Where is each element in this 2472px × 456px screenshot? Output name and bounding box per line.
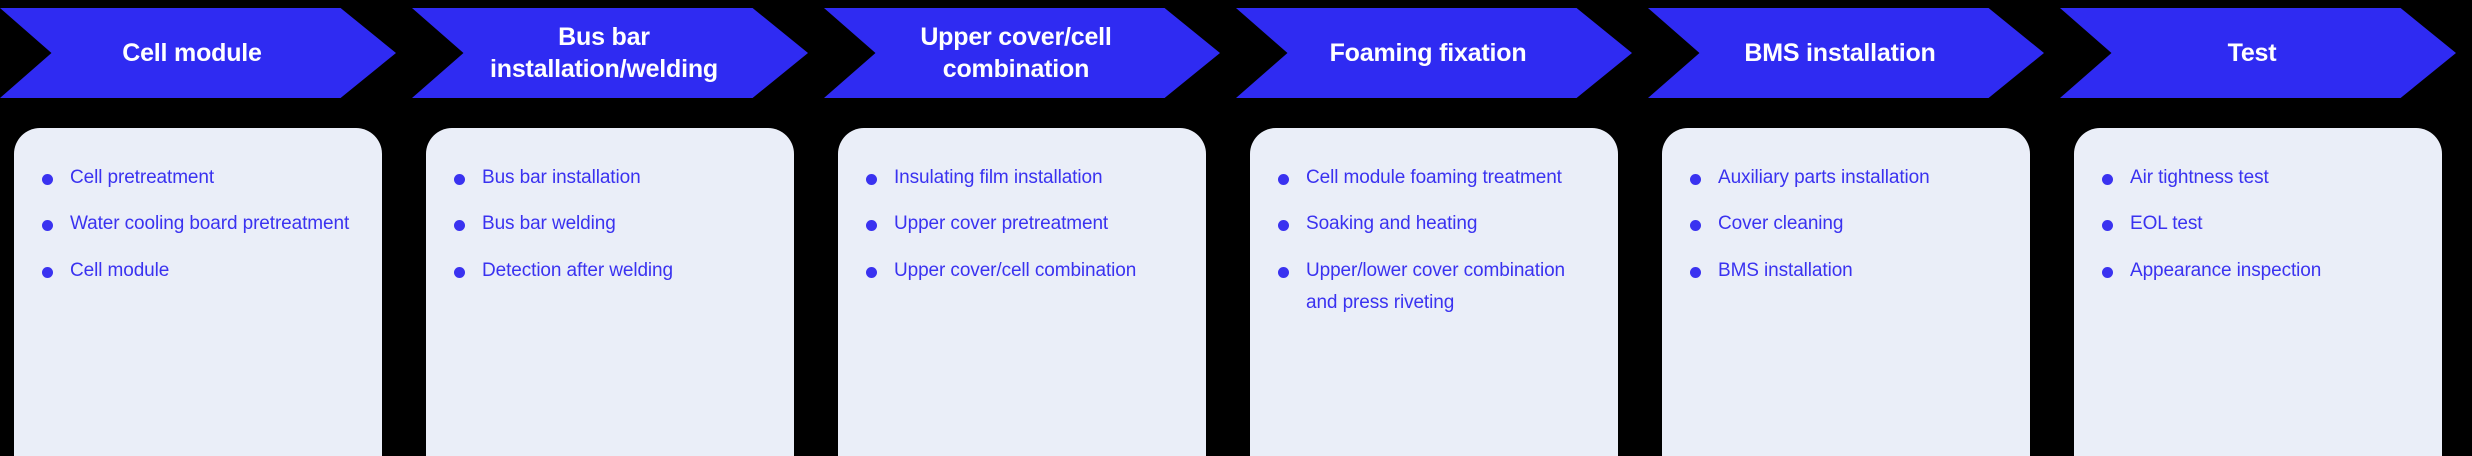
list-item-label: Auxiliary parts installation — [1718, 167, 1930, 188]
step-3-title: Upper cover/cell combination — [870, 21, 1162, 85]
bullet-icon — [454, 220, 465, 231]
list-item-label: Air tightness test — [2130, 167, 2269, 188]
list-item: Detection after welding — [452, 255, 768, 287]
step-4-task-list: Cell module foaming treatment Soaking an… — [1276, 162, 1592, 319]
bullet-icon — [42, 174, 53, 185]
bullet-icon — [1278, 220, 1289, 231]
step-3-detail-card: Insulating film installation Upper cover… — [838, 128, 1206, 456]
list-item: Bus bar welding — [452, 208, 768, 240]
bullet-icon — [2102, 174, 2113, 185]
list-item-label: Upper/lower cover combination and press … — [1306, 260, 1565, 313]
step-6-task-list: Air tightness test EOL test Appearance i… — [2100, 162, 2416, 287]
step-4-detail-card: Cell module foaming treatment Soaking an… — [1250, 128, 1618, 456]
list-item-label: EOL test — [2130, 213, 2202, 234]
list-item-label: Upper cover pretreatment — [894, 213, 1108, 234]
bullet-icon — [454, 174, 465, 185]
list-item-label: Insulating film installation — [894, 167, 1102, 188]
list-item-label: Cell module foaming treatment — [1306, 167, 1562, 188]
list-item-label: Cell pretreatment — [70, 167, 214, 188]
list-item-label: Cover cleaning — [1718, 213, 1843, 234]
step-1-title: Cell module — [122, 37, 262, 69]
list-item-label: Detection after welding — [482, 260, 673, 281]
step-6-detail-card: Air tightness test EOL test Appearance i… — [2074, 128, 2442, 456]
list-item-label: Soaking and heating — [1306, 213, 1477, 234]
step-5-detail-card: Auxiliary parts installation Cover clean… — [1662, 128, 2030, 456]
list-item-label: Appearance inspection — [2130, 260, 2321, 281]
bullet-icon — [1278, 267, 1289, 278]
process-step-4: Foaming fixation Cell module foaming tre… — [1236, 0, 1632, 456]
step-2-task-list: Bus bar installation Bus bar welding Det… — [452, 162, 768, 287]
step-3-chevron-header[interactable]: Upper cover/cell combination — [824, 8, 1220, 98]
step-2-title: Bus bar installation/welding — [458, 21, 750, 85]
step-5-task-list: Auxiliary parts installation Cover clean… — [1688, 162, 2004, 287]
step-1-chevron-header[interactable]: Cell module — [0, 8, 396, 98]
list-item: Air tightness test — [2100, 162, 2416, 194]
list-item-label: Bus bar installation — [482, 167, 641, 188]
bullet-icon — [42, 267, 53, 278]
step-6-title: Test — [2228, 37, 2277, 69]
bullet-icon — [2102, 220, 2113, 231]
bullet-icon — [42, 220, 53, 231]
list-item-label: BMS installation — [1718, 260, 1853, 281]
step-1-detail-card: Cell pretreatment Water cooling board pr… — [14, 128, 382, 456]
list-item-label: Bus bar welding — [482, 213, 616, 234]
list-item: Cover cleaning — [1688, 208, 2004, 240]
process-flow-diagram: Cell module Cell pretreatment Water cool… — [0, 0, 2472, 456]
list-item: Water cooling board pretreatment — [40, 208, 356, 240]
list-item: Cell module foaming treatment — [1276, 162, 1592, 194]
step-2-chevron-header[interactable]: Bus bar installation/welding — [412, 8, 808, 98]
bullet-icon — [866, 267, 877, 278]
list-item-label: Cell module — [70, 260, 169, 281]
step-6-chevron-header[interactable]: Test — [2060, 8, 2456, 98]
list-item: Cell module — [40, 255, 356, 287]
process-step-3: Upper cover/cell combination Insulating … — [824, 0, 1220, 456]
list-item: Appearance inspection — [2100, 255, 2416, 287]
list-item: Soaking and heating — [1276, 208, 1592, 240]
list-item: Upper/lower cover combination and press … — [1276, 255, 1592, 320]
step-4-chevron-header[interactable]: Foaming fixation — [1236, 8, 1632, 98]
bullet-icon — [1690, 174, 1701, 185]
process-step-5: BMS installation Auxiliary parts install… — [1648, 0, 2044, 456]
list-item: Upper cover/cell combination — [864, 255, 1180, 287]
bullet-icon — [1690, 267, 1701, 278]
step-4-title: Foaming fixation — [1330, 37, 1527, 69]
step-2-detail-card: Bus bar installation Bus bar welding Det… — [426, 128, 794, 456]
step-1-task-list: Cell pretreatment Water cooling board pr… — [40, 162, 356, 287]
bullet-icon — [866, 174, 877, 185]
list-item: EOL test — [2100, 208, 2416, 240]
list-item: Upper cover pretreatment — [864, 208, 1180, 240]
process-step-1: Cell module Cell pretreatment Water cool… — [0, 0, 396, 456]
list-item: BMS installation — [1688, 255, 2004, 287]
step-5-title: BMS installation — [1744, 37, 1935, 69]
list-item-label: Water cooling board pretreatment — [70, 213, 349, 234]
bullet-icon — [2102, 267, 2113, 278]
step-5-chevron-header[interactable]: BMS installation — [1648, 8, 2044, 98]
list-item: Insulating film installation — [864, 162, 1180, 194]
process-step-2: Bus bar installation/welding Bus bar ins… — [412, 0, 808, 456]
bullet-icon — [1690, 220, 1701, 231]
list-item: Bus bar installation — [452, 162, 768, 194]
list-item: Cell pretreatment — [40, 162, 356, 194]
bullet-icon — [454, 267, 465, 278]
process-step-6: Test Air tightness test EOL test Appeara… — [2060, 0, 2456, 456]
bullet-icon — [1278, 174, 1289, 185]
list-item-label: Upper cover/cell combination — [894, 260, 1136, 281]
bullet-icon — [866, 220, 877, 231]
list-item: Auxiliary parts installation — [1688, 162, 2004, 194]
step-3-task-list: Insulating film installation Upper cover… — [864, 162, 1180, 287]
